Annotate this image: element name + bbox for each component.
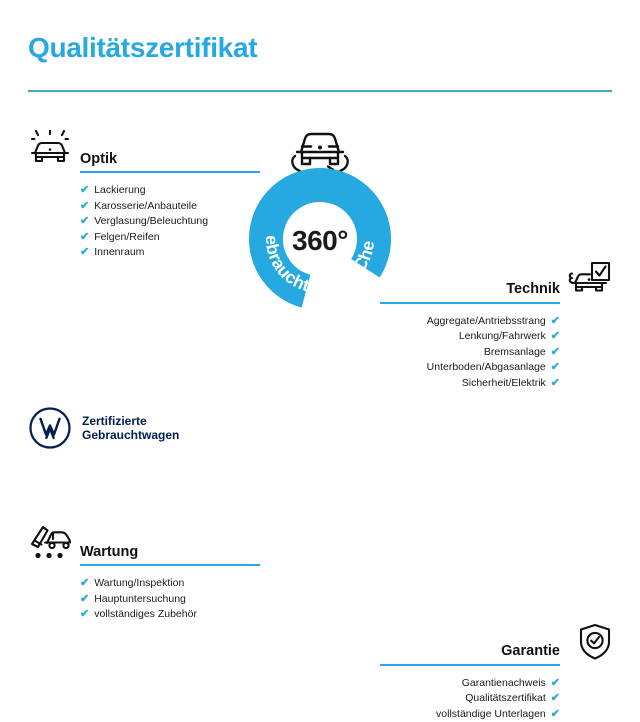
- section-garantie: Garantie Garantienachweis✔ Qualitätszert…: [380, 623, 612, 722]
- check-icon: ✔: [80, 609, 89, 620]
- car-headlights-icon: [28, 130, 74, 168]
- section-header-technik: Technik: [380, 261, 612, 301]
- list-item: Qualitätszertifikat✔: [380, 691, 560, 707]
- section-title-technik: Technik: [506, 282, 560, 297]
- list-item-label: vollständiges Zubehör: [94, 607, 197, 623]
- section-divider-garantie: [380, 664, 560, 666]
- section-technik: Technik Aggregate/Antriebsstrang✔ Lenkun…: [380, 261, 612, 392]
- check-icon: ✔: [551, 331, 560, 342]
- volkswagen-logo: [28, 406, 72, 450]
- list-item: Garantienachweis✔: [380, 676, 560, 692]
- list-item-label: Lenkung/Fahrwerk: [459, 329, 546, 345]
- list-item-label: vollständige Unterlagen: [436, 707, 546, 722]
- section-wartung: Wartung ✔Wartung/Inspektion ✔Hauptunters…: [28, 523, 260, 623]
- list-item: Sicherheit/Elektrik✔: [380, 376, 560, 392]
- list-item-label: Aggregate/Antriebsstrang: [427, 314, 546, 330]
- list-item: Lenkung/Fahrwerk✔: [380, 329, 560, 345]
- footer: Zertifizierte Gebrauchtwagen: [28, 406, 179, 450]
- list-item: ✔Hauptuntersuchung: [80, 592, 260, 608]
- check-icon: ✔: [80, 232, 89, 243]
- check-icon: ✔: [80, 247, 89, 258]
- check-icon: ✔: [551, 693, 560, 704]
- check-icon: ✔: [80, 216, 89, 227]
- list-item-label: Sicherheit/Elektrik: [462, 376, 546, 392]
- section-header-wartung: Wartung: [28, 523, 260, 563]
- gebrauchtwagen-check-badge: Gebrauchtwagen-Check 360°: [226, 126, 414, 316]
- checklist-technik: Aggregate/Antriebsstrang✔ Lenkung/Fahrwe…: [380, 314, 612, 392]
- checklist-wartung: ✔Wartung/Inspektion ✔Hauptuntersuchung ✔…: [28, 576, 260, 623]
- check-icon: ✔: [80, 201, 89, 212]
- badge-value: 360°: [292, 227, 348, 255]
- page-title: Qualitätszertifikat: [28, 34, 257, 62]
- car-service-wrench-icon: [28, 523, 74, 561]
- list-item-label: Verglasung/Beleuchtung: [94, 214, 208, 230]
- check-icon: ✔: [551, 378, 560, 389]
- check-icon: ✔: [551, 709, 560, 720]
- check-icon: ✔: [80, 578, 89, 589]
- check-icon: ✔: [551, 678, 560, 689]
- section-divider-wartung: [80, 564, 260, 566]
- car-checkbox-icon: [566, 261, 612, 299]
- list-item-label: Innenraum: [94, 245, 144, 261]
- shield-check-icon: [566, 623, 612, 661]
- list-item-label: Karosserie/Anbauteile: [94, 199, 197, 215]
- checklist-garantie: Garantienachweis✔ Qualitätszertifikat✔ v…: [380, 676, 612, 722]
- list-item-label: Lackierung: [94, 183, 145, 199]
- list-item-label: Wartung/Inspektion: [94, 576, 184, 592]
- check-icon: ✔: [551, 316, 560, 327]
- section-title-wartung: Wartung: [80, 545, 138, 560]
- footer-label: Zertifizierte Gebrauchtwagen: [82, 414, 179, 443]
- list-item-label: Bremsanlage: [484, 345, 546, 361]
- check-icon: ✔: [80, 594, 89, 605]
- list-item-label: Hauptuntersuchung: [94, 592, 186, 608]
- list-item-label: Qualitätszertifikat: [465, 691, 546, 707]
- section-title-optik: Optik: [80, 152, 117, 167]
- check-icon: ✔: [551, 362, 560, 373]
- list-item: Unterboden/Abgasanlage✔: [380, 360, 560, 376]
- list-item: vollständige Unterlagen✔: [380, 707, 560, 722]
- list-item-label: Garantienachweis: [462, 676, 546, 692]
- section-title-garantie: Garantie: [501, 644, 560, 659]
- list-item: ✔Wartung/Inspektion: [80, 576, 260, 592]
- list-item-label: Felgen/Reifen: [94, 230, 159, 246]
- check-icon: ✔: [80, 185, 89, 196]
- list-item: ✔vollständiges Zubehör: [80, 607, 260, 623]
- list-item-label: Unterboden/Abgasanlage: [427, 360, 546, 376]
- list-item: Bremsanlage✔: [380, 345, 560, 361]
- check-icon: ✔: [551, 347, 560, 358]
- section-header-garantie: Garantie: [380, 623, 612, 663]
- title-divider: [28, 90, 612, 92]
